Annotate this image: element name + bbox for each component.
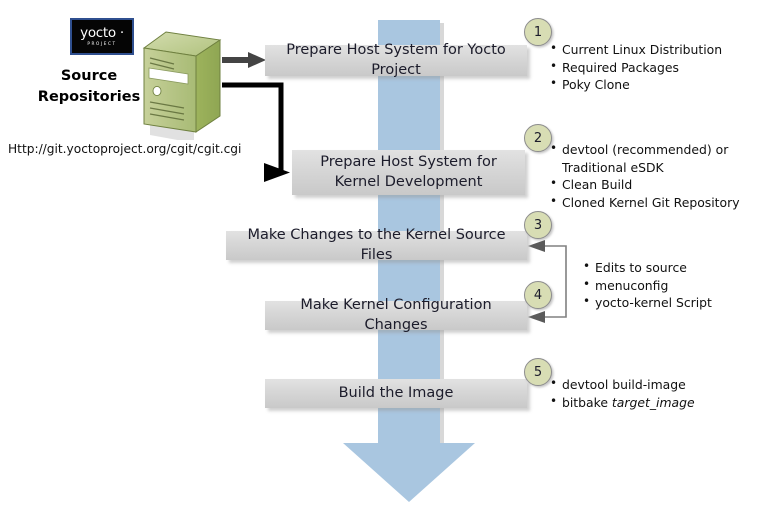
diagram-canvas: yocto · PROJECT Source Repositories Http… <box>0 0 769 517</box>
process-box-step-3[interactable]: Make Changes to the Kernel Source Files <box>226 231 527 260</box>
bullet-item: Clean Build <box>550 176 740 194</box>
step-number-badge-1: 1 <box>524 18 552 46</box>
step-number-badge-3: 3 <box>524 211 552 239</box>
source-repositories-label: Source Repositories <box>34 66 144 108</box>
step-number-4: 4 <box>534 288 542 303</box>
process-box-step-2-label: Prepare Host System for Kernel Developme… <box>300 153 517 192</box>
bullet-item-continuation: Traditional eSDK <box>550 159 740 177</box>
bullet-item: bitbake target_image <box>550 394 695 412</box>
source-repository-url: Http://git.yoctoproject.org/cgit/cgit.cg… <box>8 142 241 156</box>
bullet-list-step-2: devtool (recommended) or Traditional eSD… <box>550 141 740 211</box>
step-number-1: 1 <box>534 25 542 40</box>
process-box-step-5[interactable]: Build the Image <box>265 379 527 408</box>
connector-server-to-step1 <box>222 52 266 68</box>
step-number-badge-2: 2 <box>524 124 552 152</box>
step-number-badge-5: 5 <box>524 358 552 386</box>
step-number-badge-4: 4 <box>524 281 552 309</box>
bullet-list-step-5: devtool build-image bitbake target_image <box>550 376 695 411</box>
bullet-item-emphasis: target_image <box>612 395 695 410</box>
source-label-line-2: Repositories <box>34 87 144 108</box>
process-box-step-1-label: Prepare Host System for Yocto Project <box>273 41 519 80</box>
process-box-step-4-label: Make Kernel Configuration Changes <box>273 296 519 335</box>
process-box-step-4[interactable]: Make Kernel Configuration Changes <box>265 301 527 330</box>
connector-server-to-step2 <box>222 85 290 182</box>
bullet-list-steps-3-4: Edits to source menuconfig yocto-kernel … <box>583 259 712 312</box>
yocto-project-logo: yocto · PROJECT <box>70 18 134 55</box>
step-number-5: 5 <box>534 365 542 380</box>
source-label-line-1: Source <box>34 66 144 87</box>
yocto-logo-subtext: PROJECT <box>87 42 116 46</box>
bullet-item-text: bitbake <box>562 395 612 410</box>
yocto-logo-wordmark: yocto · <box>80 27 124 41</box>
bullet-item: Cloned Kernel Git Repository <box>550 194 740 212</box>
step-number-2: 2 <box>534 131 542 146</box>
bullet-item: Poky Clone <box>550 76 722 94</box>
flow-arrow-head-icon <box>343 443 475 502</box>
server-tower-icon <box>138 28 224 140</box>
bullet-item: menuconfig <box>583 277 712 295</box>
bullet-list-step-1: Current Linux Distribution Required Pack… <box>550 41 722 94</box>
bullet-item: Current Linux Distribution <box>550 41 722 59</box>
bullet-item: devtool (recommended) or <box>550 141 740 159</box>
step-number-3: 3 <box>534 218 542 233</box>
bullet-item: devtool build-image <box>550 376 695 394</box>
process-box-step-2[interactable]: Prepare Host System for Kernel Developme… <box>292 150 525 195</box>
process-box-step-5-label: Build the Image <box>339 384 454 404</box>
bullet-item: Edits to source <box>583 259 712 277</box>
process-box-step-1[interactable]: Prepare Host System for Yocto Project <box>265 45 527 76</box>
bullet-item: yocto-kernel Script <box>583 294 712 312</box>
bullet-item: Required Packages <box>550 59 722 77</box>
process-box-step-3-label: Make Changes to the Kernel Source Files <box>234 226 519 265</box>
